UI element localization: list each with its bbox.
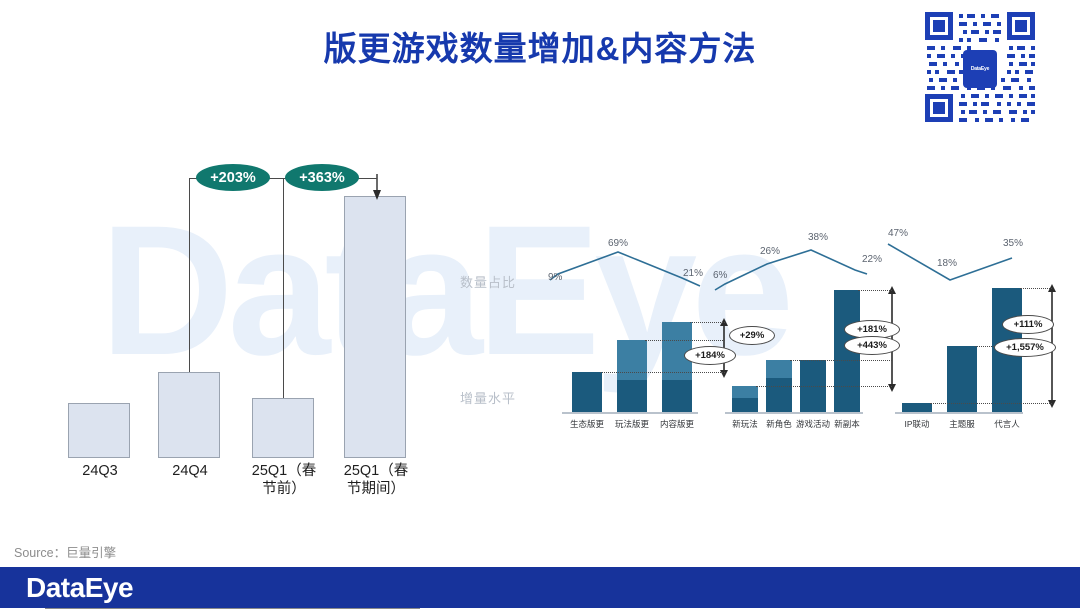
dashline-group-3-top (1020, 288, 1052, 289)
bar-label-25q1-during: 25Q1（春 节期间） (328, 462, 424, 498)
dashline-group-3-low (930, 403, 1052, 404)
dashline-group-2-mid (790, 360, 892, 361)
bar-25q1-pre[interactable] (252, 398, 314, 458)
obadge-group-1-1[interactable]: +184% (684, 346, 736, 365)
bar-25q1-during[interactable] (344, 196, 406, 458)
footer-logo: DataEye (26, 572, 133, 604)
baseline-group-3 (895, 412, 1023, 414)
connector-24q4 (189, 178, 190, 372)
pct-group-3-1: 18% (937, 258, 957, 269)
rbar-group-1-2[interactable] (662, 322, 692, 412)
qr-center-logo: DataEye (963, 50, 997, 88)
rbar-label-group-3-2: 代言人 (977, 418, 1037, 430)
bar-label-25q1-pre: 25Q1（春 节前） (236, 462, 332, 498)
baseline-group-1 (562, 412, 698, 414)
footer-bar: DataEye (0, 567, 1080, 608)
rbar-group-1-0[interactable] (572, 372, 602, 412)
dashline-group-1-low (600, 372, 725, 373)
baseline-group-2 (725, 412, 863, 414)
rbar-group-3-0[interactable] (902, 403, 932, 412)
badge-363[interactable]: +363% (285, 164, 359, 191)
bar-label-24q3: 24Q3 (60, 462, 140, 480)
pct-group-3-0: 47% (888, 228, 908, 239)
pct-group-1-0: 9% (548, 272, 562, 283)
slide-root: DataEye 版更游戏数量增加&内容方法 (0, 0, 1080, 608)
bar-24q3[interactable] (68, 403, 130, 458)
pct-group-2-2: 38% (808, 232, 828, 243)
rbar-group-2-0[interactable] (732, 386, 758, 412)
rbar-group-1-1[interactable] (617, 340, 647, 412)
line-chart-group-3 (888, 230, 1078, 290)
pct-group-2-3: 22% (862, 254, 882, 265)
rbar-label-group-1-2: 内容版更 (647, 418, 707, 430)
obadge-group-2-1[interactable]: +443% (844, 336, 900, 355)
source-note: Source：巨量引擎 (14, 542, 116, 561)
qr-code[interactable]: DataEye (921, 8, 1039, 126)
page-title: 版更游戏数量增加&内容方法 (0, 22, 1080, 70)
pct-group-1-1: 69% (608, 238, 628, 249)
dashline-group-1-mid (645, 340, 725, 341)
obadge-group-3-0[interactable]: +111% (1002, 315, 1054, 334)
right-charts-panel: 数量占比 增量水平 9% 69% 21% 生态版更 (440, 150, 1080, 470)
dashline-group-1-top (690, 322, 725, 323)
dashline-group-2-low (756, 386, 892, 387)
dashline-group-2-top (858, 290, 892, 291)
pct-group-3-2: 35% (1003, 238, 1023, 249)
bar-24q4[interactable] (158, 372, 220, 458)
pct-group-1-2: 21% (683, 268, 703, 279)
pct-group-2-1: 26% (760, 246, 780, 257)
connector-25q1-pre (283, 178, 284, 398)
rbar-label-group-2-3: 新副本 (817, 418, 877, 430)
obadge-group-1-0[interactable]: +29% (729, 326, 775, 345)
row-label-share: 数量占比 (460, 272, 516, 291)
pct-group-2-0: 6% (713, 270, 727, 281)
bar-label-24q4: 24Q4 (150, 462, 230, 480)
badge-203[interactable]: +203% (196, 164, 270, 191)
left-bar-chart: 版更数 24Q3 24Q4 25Q1（春 节前） 25Q1（春 节期间） (0, 150, 440, 510)
row-label-growth: 增量水平 (460, 388, 516, 407)
obadge-group-3-1[interactable]: +1,557% (994, 338, 1056, 357)
